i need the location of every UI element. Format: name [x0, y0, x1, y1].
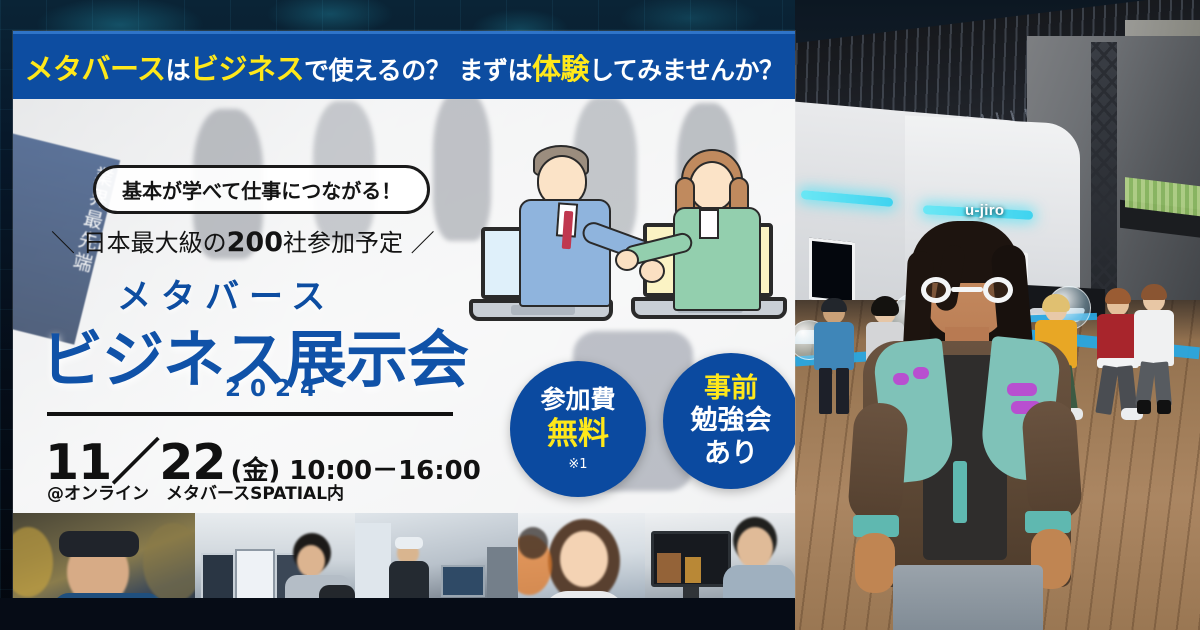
avatar-white-coat — [1129, 288, 1181, 424]
foreground-avatar — [835, 215, 1095, 630]
badge-prestudy-line1: 事前 — [704, 374, 758, 403]
sub-headline: ＼ 日本最大級の200社参加予定 ／ — [51, 223, 435, 258]
sub-headline-post: 社参加予定 ／ — [283, 229, 435, 257]
benefit-pill: 基本が学べて仕事につながる！ — [93, 165, 430, 214]
header-part-4: で使えるの？ まずは — [304, 56, 532, 85]
avatar-arm-left — [847, 401, 909, 524]
header-part-2: は — [166, 56, 191, 85]
badge-free-line2: 無料 — [547, 418, 609, 451]
poster-header-banner: メタバースはビジネスで使えるの？ まずは体験してみませんか？ — [13, 31, 795, 99]
metaverse-scene: u-jiro — [795, 0, 1200, 630]
photo-man-virtual-monitor — [645, 513, 795, 598]
sunglasses-icon — [921, 277, 1013, 303]
header-part-3: ビジネス — [190, 52, 304, 86]
photo-smiling-woman — [518, 513, 645, 598]
header-part-5: 体験 — [532, 52, 589, 86]
laptop-handshake-illustration — [475, 139, 795, 364]
badge-free-entry: 参加費 無料 ※1 — [510, 361, 646, 497]
photo-vr-factory-worker — [13, 513, 195, 598]
sub-headline-pre: ＼ 日本最大級の — [51, 229, 227, 257]
header-headline: メタバースはビジネスで使えるの？ まずは体験してみませんか？ — [24, 46, 783, 88]
badge-free-note: ※1 — [568, 458, 587, 472]
jacket-patch — [913, 367, 929, 379]
photo-office-vr-demo — [355, 513, 518, 598]
badge-prestudy-line2: 勉強会 — [691, 406, 772, 435]
header-part-1: メタバース — [24, 52, 165, 86]
businessman-illustration — [519, 145, 649, 305]
event-poster: 業界最先端 メタバースはビジネスで使えるの？ まずは体験してみませんか？ 基本が… — [13, 31, 795, 598]
jacket-patch — [893, 373, 909, 385]
badge-prestudy-line3: あり — [704, 439, 758, 468]
screenshot-canvas: u-jiro — [0, 0, 1200, 630]
header-part-6: してみませんか？ — [589, 56, 784, 85]
avatar-arm-right — [1021, 399, 1083, 522]
jacket-patch — [1007, 383, 1037, 396]
photo-strip — [13, 513, 795, 598]
event-venue: @オンライン メタバースSPATIAL内 — [47, 479, 344, 504]
avatar-pants — [893, 565, 1043, 630]
jacket-zipper — [953, 461, 967, 523]
divider-rule — [47, 412, 453, 416]
badge-prestudy: 事前 勉強会 あり — [663, 353, 795, 489]
title-year: 2024 — [225, 376, 325, 402]
badge-free-line1: 参加費 — [540, 386, 615, 413]
bottom-dark-band — [0, 598, 795, 630]
sub-headline-number: 200 — [227, 227, 283, 258]
avatar-hand-left — [855, 533, 895, 593]
photo-engineer-monitors — [195, 513, 355, 598]
businesswoman-illustration — [671, 149, 795, 307]
